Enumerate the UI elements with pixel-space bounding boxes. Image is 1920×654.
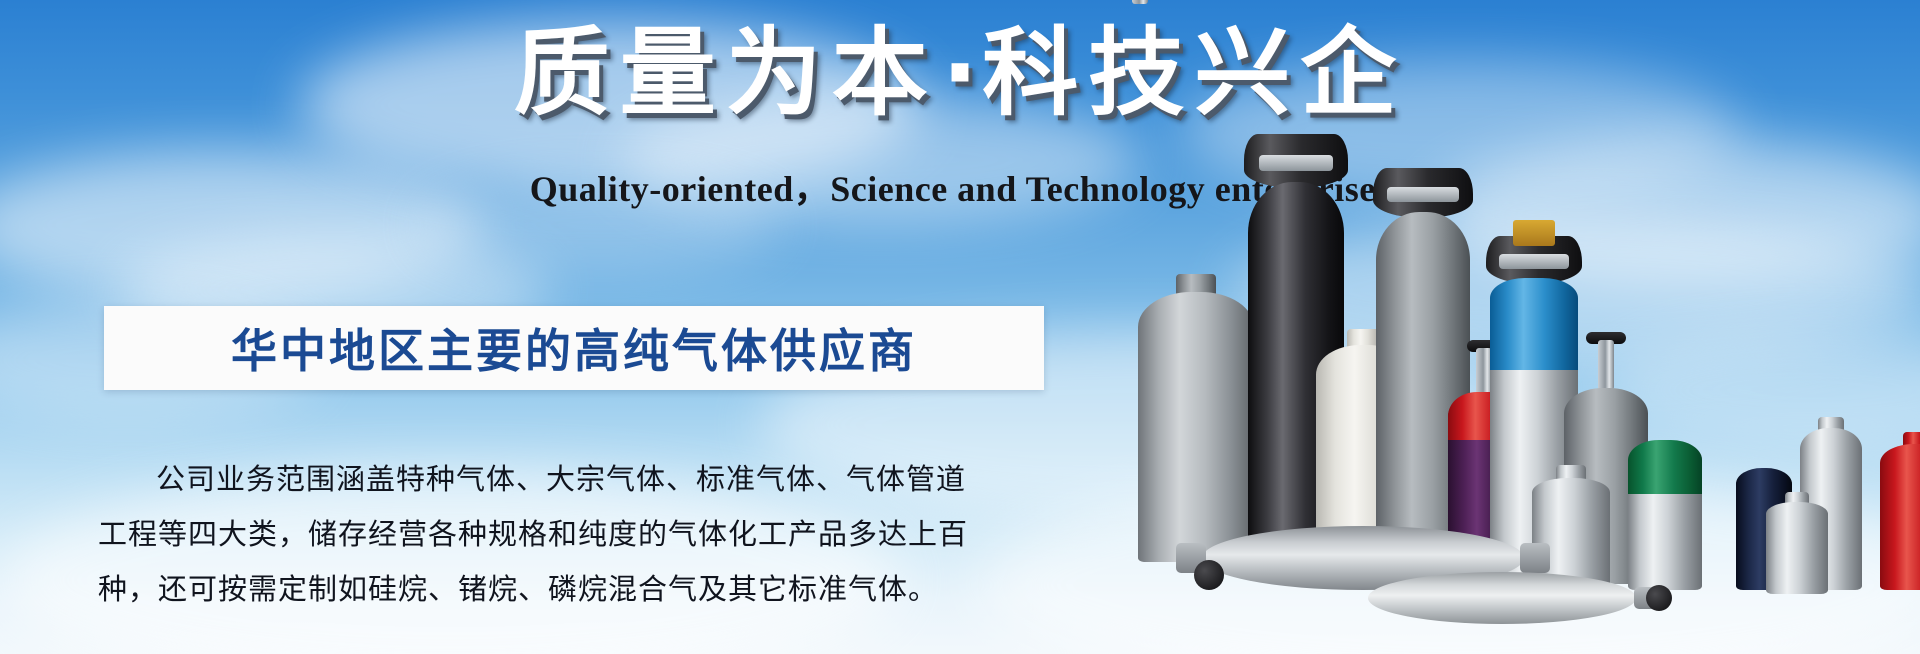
cylinder-body [1138, 292, 1254, 562]
paragraph-line: 种，还可按需定制如硅烷、锗烷、磷烷混合气及其它标准气体。 [98, 562, 1058, 617]
cylinder-valve [1132, 0, 1148, 4]
gas-cylinder-group-image [1140, 0, 1920, 654]
callout-text: 华中地区主要的高纯气体供应商 [231, 315, 917, 381]
green-silver-cylinder [1628, 440, 1702, 590]
large-grey-cylinder [1138, 292, 1254, 562]
aluminium-short-cylinder [1766, 502, 1828, 594]
cylinder-cap [1373, 168, 1473, 218]
horizontal-small-cylinder [1368, 572, 1636, 624]
cylinder-body [1766, 502, 1828, 594]
headline-separator-dot: · [938, 17, 982, 129]
cylinder-cap [1244, 134, 1348, 188]
hero-banner: 质量为本·科技兴企 Quality-oriented，Science and T… [0, 0, 1920, 654]
valve-knob [1194, 560, 1224, 590]
paragraph-line: 公司业务范围涵盖特种气体、大宗气体、标准气体、气体管道 [98, 452, 1058, 507]
red-cylinder [1880, 444, 1920, 590]
cylinder-body [1880, 444, 1920, 590]
cylinder-valve [1598, 340, 1614, 390]
cylinder-blue-band [1490, 278, 1578, 370]
cylinder-nose [1520, 543, 1550, 573]
headline-part-one: 质量为本 [514, 17, 938, 129]
paragraph-line: 工程等四大类，储存经营各种规格和纯度的气体化工产品多达上百 [98, 507, 1058, 562]
callout-box: 华中地区主要的高纯气体供应商 [104, 306, 1044, 390]
description-paragraph: 公司业务范围涵盖特种气体、大宗气体、标准气体、气体管道 工程等四大类，储存经营各… [98, 452, 1058, 617]
valve-knob [1646, 585, 1672, 611]
brass-valve [1513, 220, 1555, 246]
cylinder-green-band [1628, 440, 1702, 494]
